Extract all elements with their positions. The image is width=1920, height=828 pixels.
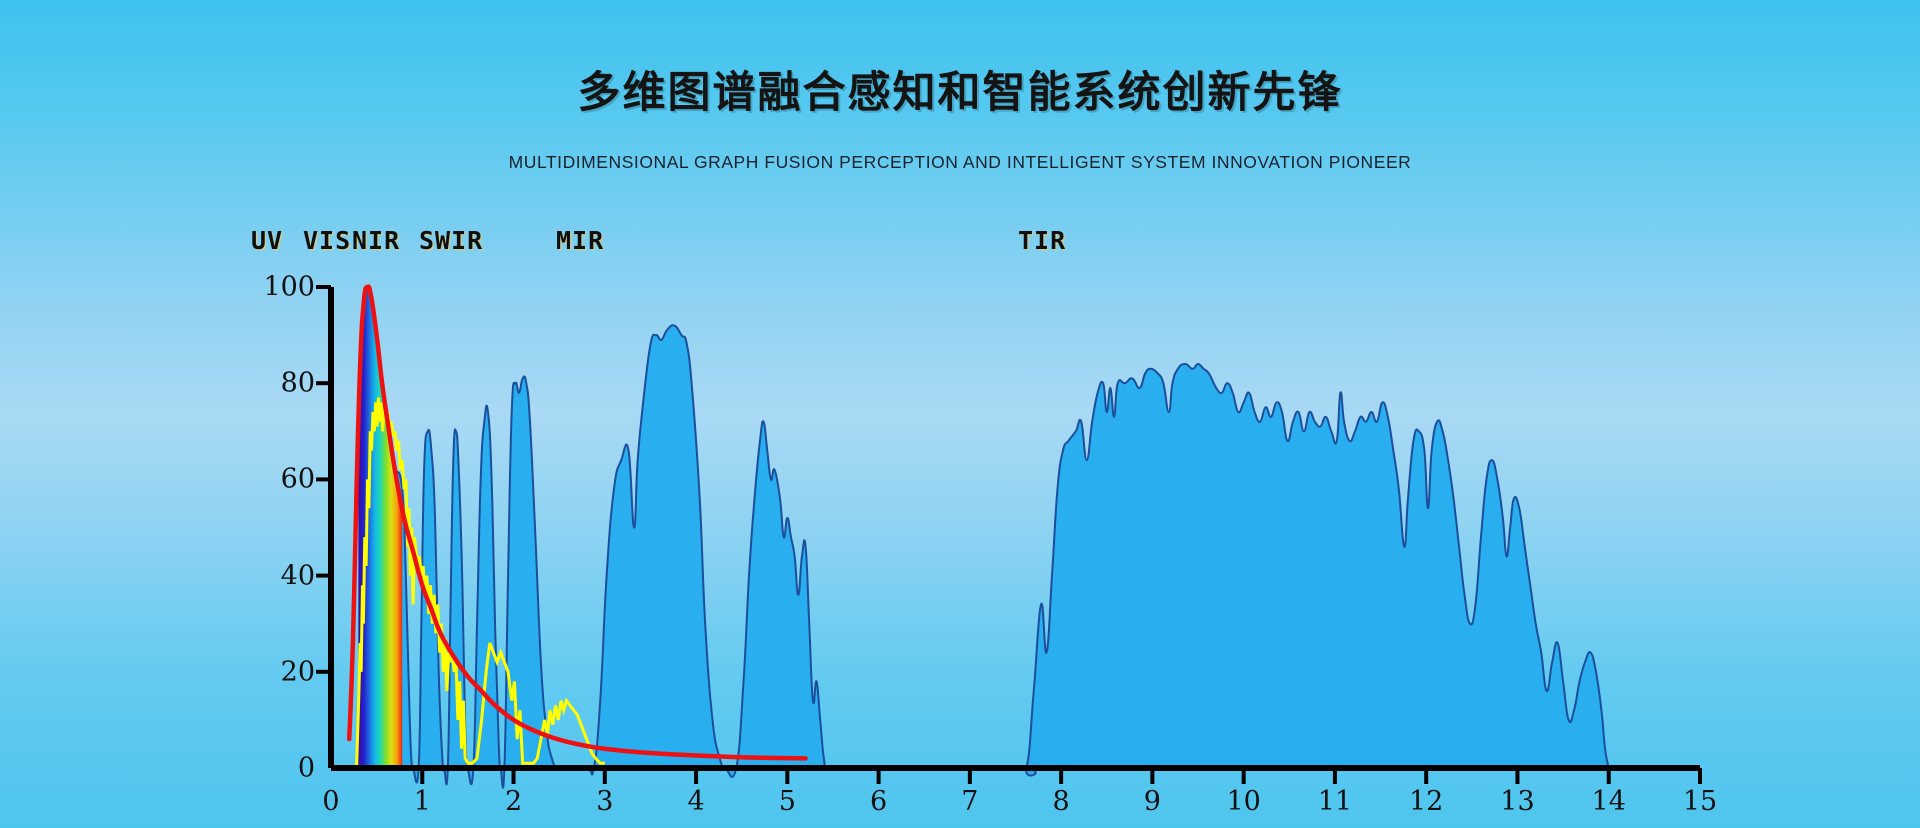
x-tick-label: 2	[505, 786, 522, 817]
y-tick-label: 40	[253, 560, 315, 591]
x-tick-label: 0	[322, 786, 339, 817]
x-tick-label: 14	[1592, 786, 1626, 817]
x-tick-label: 15	[1683, 786, 1717, 817]
y-tick-label: 100	[253, 272, 315, 303]
x-tick-label: 8	[1053, 786, 1070, 817]
x-tick-label: 9	[1144, 786, 1161, 817]
x-tick-label: 12	[1409, 786, 1443, 817]
spectral-chart	[0, 0, 1920, 828]
y-tick-label: 0	[253, 753, 315, 784]
x-tick-label: 3	[596, 786, 613, 817]
x-tick-label: 6	[870, 786, 887, 817]
y-tick-label: 60	[253, 464, 315, 495]
y-tick-label: 20	[253, 656, 315, 687]
x-tick-label: 11	[1318, 786, 1352, 817]
solar-blackbody-curve	[349, 287, 805, 759]
x-tick-label: 4	[687, 786, 704, 817]
x-tick-label: 5	[779, 786, 796, 817]
x-tick-label: 10	[1226, 786, 1260, 817]
x-tick-label: 7	[961, 786, 978, 817]
x-tick-label: 13	[1500, 786, 1534, 817]
poster-root: 多维图谱融合感知和智能系统创新先锋 MULTIDIMENSIONAL GRAPH…	[0, 0, 1920, 828]
y-tick-label: 80	[253, 368, 315, 399]
x-tick-label: 1	[414, 786, 431, 817]
